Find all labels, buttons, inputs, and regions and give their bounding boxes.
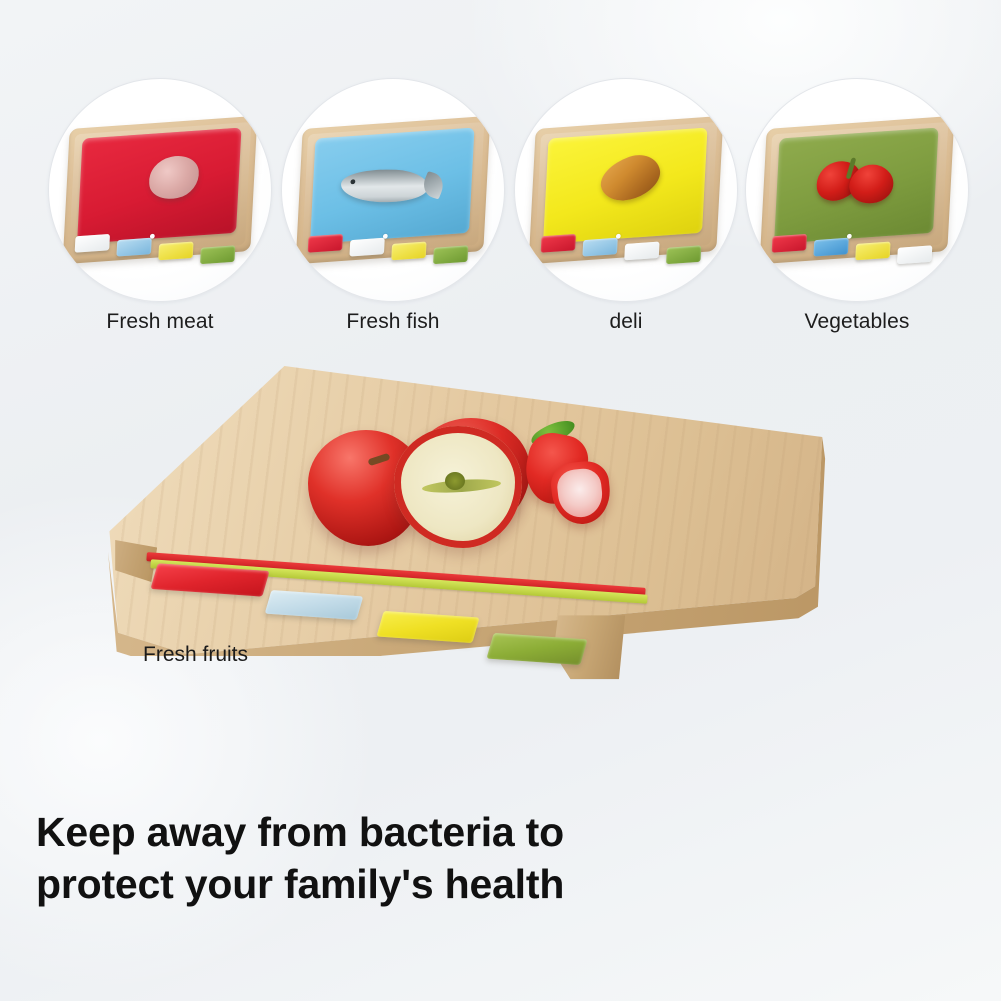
thumbnail-fresh-meat[interactable]: Fresh meat	[48, 78, 272, 302]
tab-white	[349, 238, 384, 257]
hero-label: Fresh fruits	[143, 643, 248, 667]
product-infographic: Fresh meat	[0, 0, 1001, 1001]
tab-yellow	[855, 242, 890, 261]
strawberry-half	[549, 459, 613, 527]
tab-white	[897, 245, 932, 264]
tab-red	[541, 234, 576, 253]
thumbnail-fresh-fish[interactable]: Fresh fish	[281, 78, 505, 302]
apple-half	[394, 426, 522, 548]
mini-cutting-board	[63, 116, 258, 264]
tab-red	[308, 234, 343, 253]
thumbnail-caption: Fresh meat	[48, 310, 272, 334]
pull-tab-yellow[interactable]	[376, 611, 479, 643]
mini-cutting-board	[529, 116, 724, 264]
pull-tab-light-blue[interactable]	[265, 590, 364, 620]
thumbnail-circle	[745, 78, 969, 302]
thumbnail-circle	[48, 78, 272, 302]
tab-white	[624, 242, 659, 261]
thumbnail-caption: deli	[514, 310, 738, 334]
headline-line-1: Keep away from bacteria to	[36, 806, 736, 858]
tab-red	[772, 234, 807, 253]
thumbnail-row: Fresh meat	[0, 0, 1001, 350]
thumbnail-caption: Vegetables	[745, 310, 969, 334]
thumbnail-caption: Fresh fish	[281, 310, 505, 334]
hero-product-shot	[0, 350, 1001, 750]
mini-cutting-board	[296, 116, 491, 264]
apple-stem-icon	[368, 452, 391, 465]
headline-line-2: protect your family's health	[36, 858, 736, 910]
thumbnail-deli[interactable]: deli	[514, 78, 738, 302]
fruit-group	[300, 412, 640, 572]
tab-green	[433, 245, 468, 264]
tab-white	[75, 234, 110, 253]
tab-green	[200, 245, 235, 264]
tab-light-blue	[116, 238, 151, 257]
mini-cutting-board	[760, 116, 955, 264]
tab-green	[666, 245, 701, 264]
tab-yellow	[158, 242, 193, 261]
thumbnail-circle	[281, 78, 505, 302]
tab-light-blue	[582, 238, 617, 257]
thumbnail-vegetables[interactable]: Vegetables	[745, 78, 969, 302]
thumbnail-circle	[514, 78, 738, 302]
headline: Keep away from bacteria to protect your …	[36, 806, 736, 911]
pull-tab-green[interactable]	[486, 633, 587, 665]
tab-light-blue	[813, 238, 848, 257]
tab-yellow	[391, 242, 426, 261]
